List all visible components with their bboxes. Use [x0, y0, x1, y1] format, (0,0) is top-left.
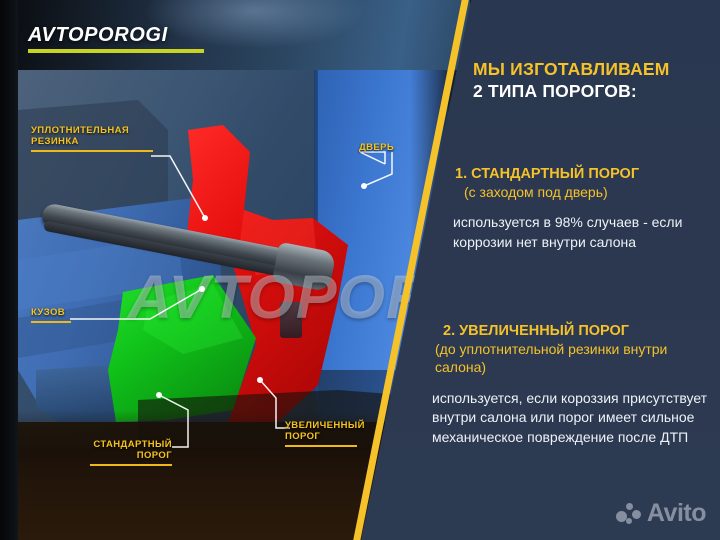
yellow-divider — [0, 0, 720, 540]
brand-logo-text: AVTOPOROGI — [28, 24, 204, 47]
avito-wordmark: Avito — [647, 501, 706, 526]
brand-logo-underline — [28, 49, 204, 53]
brand-logo: AVTOPOROGI — [28, 24, 204, 53]
promo-image: AVTOPOROGI УПЛОТНИТЕЛЬНАЯ РЕЗИНКА ДВЕРЬ … — [0, 0, 720, 540]
avito-dots-icon — [616, 503, 642, 525]
avito-watermark: Avito — [616, 501, 706, 526]
